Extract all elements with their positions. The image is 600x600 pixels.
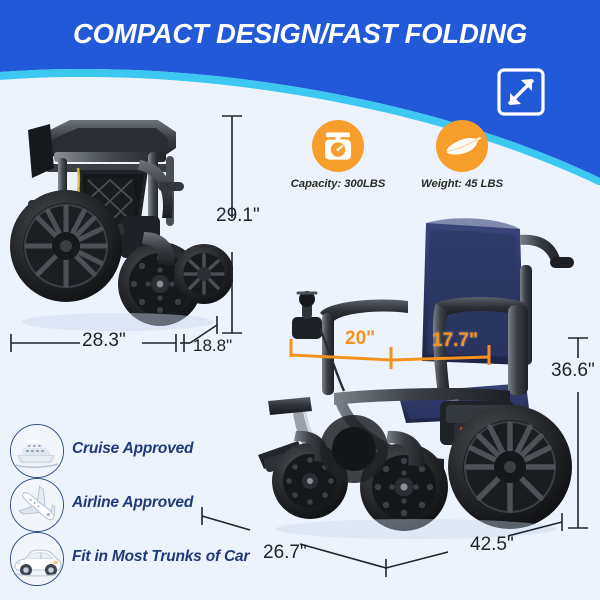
feature-airline-label: Airline Approved — [72, 494, 193, 512]
dim-folded-width: 28.3" — [82, 330, 126, 352]
feature-airline: Airline Approved — [10, 478, 240, 532]
expand-arrows-icon — [497, 68, 545, 116]
feature-car-label: Fit in Most Trunks of Car — [72, 548, 249, 566]
spec-badges: Capacity: 300LBS Weight: 45 LBS — [282, 120, 522, 205]
badge-weight: Weight: 45 LBS — [406, 120, 518, 190]
feature-list: Cruise Approved Airline Approved — [10, 424, 240, 586]
badge-weight-label: Weight: 45 LBS — [406, 178, 518, 190]
feather-icon — [436, 120, 488, 172]
car-icon — [10, 532, 64, 586]
feature-cruise: Cruise Approved — [10, 424, 240, 478]
feature-car-trunk: Fit in Most Trunks of Car — [10, 532, 240, 586]
page-title: COMPACT DESIGN/FAST FOLDING — [0, 18, 600, 50]
dim-folded-height: 29.1" — [216, 205, 260, 227]
dim-overall-height: 36.6" — [551, 360, 595, 382]
airplane-icon — [10, 478, 64, 532]
badge-capacity: Capacity: 300LBS — [282, 120, 394, 190]
infographic-canvas: COMPACT DESIGN/FAST FOLDING Capacit — [0, 0, 600, 600]
main-dimension-lines — [190, 330, 600, 600]
cruise-ship-icon — [10, 424, 64, 478]
feature-cruise-label: Cruise Approved — [72, 440, 193, 458]
dim-overall-length: 42.5" — [470, 534, 514, 556]
badge-capacity-label: Capacity: 300LBS — [282, 178, 394, 190]
folded-dimension-lines — [0, 100, 260, 360]
kitchen-scale-icon — [312, 120, 364, 172]
dim-overall-depth: 26.7" — [263, 542, 307, 564]
